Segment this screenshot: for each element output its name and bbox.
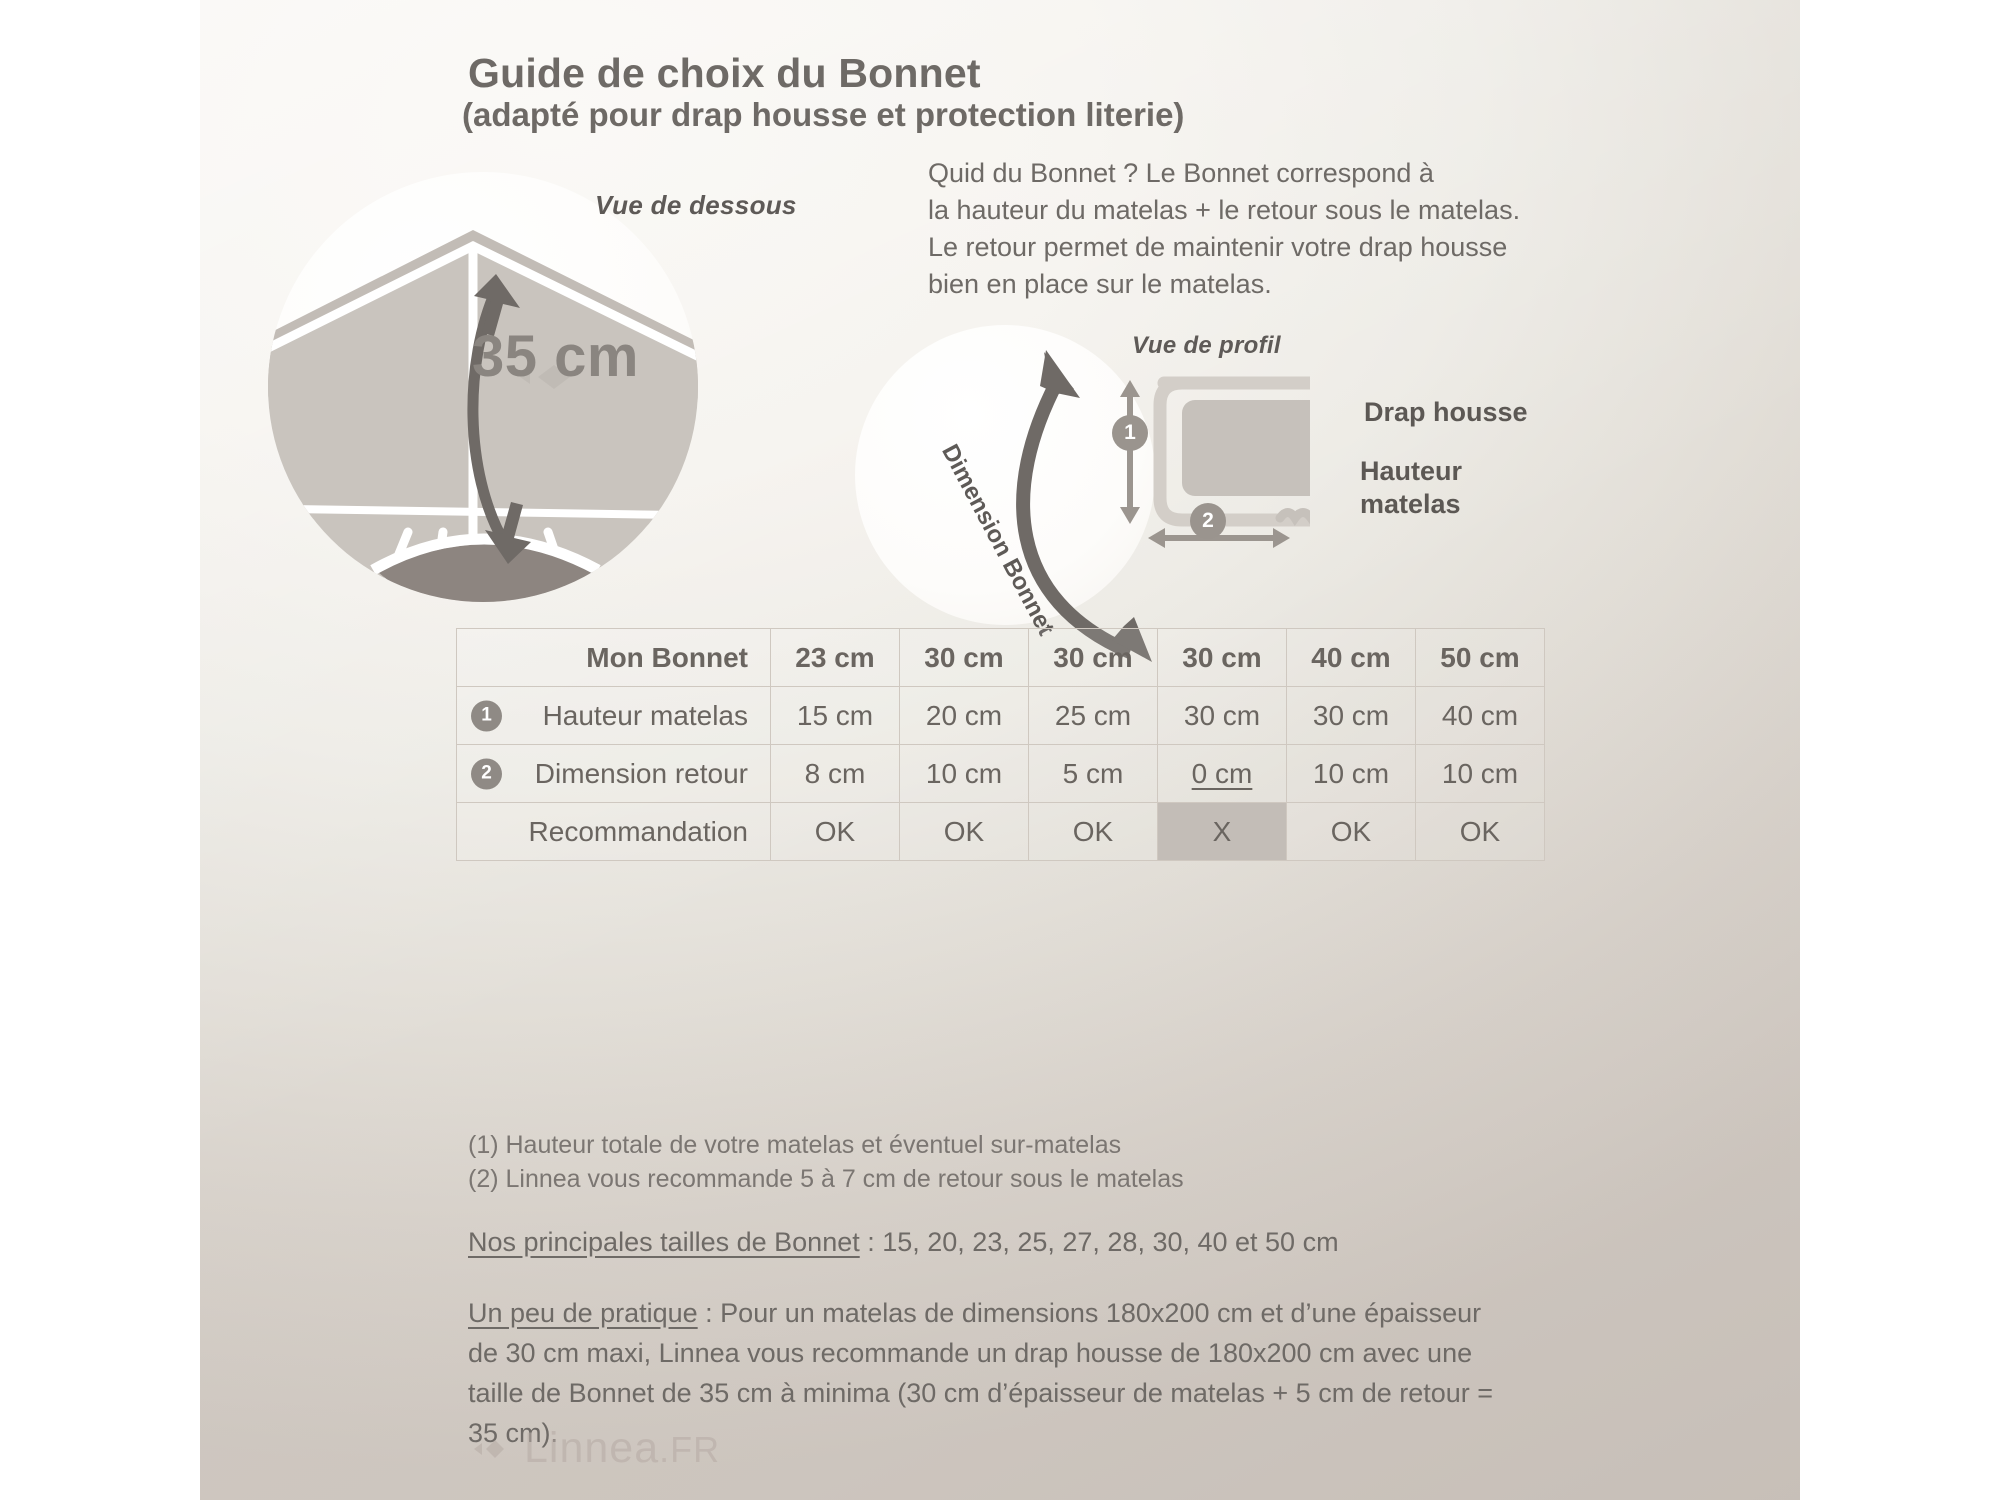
table-cell-r1c4: 10 cm <box>1287 745 1416 803</box>
infographic-canvas: Vue de dessous 35 cm <box>0 0 2000 1500</box>
table-col-header-3: 30 cm <box>1029 629 1158 687</box>
logo[interactable]: Linnea.FR <box>470 1424 720 1473</box>
table-row-label-cell-1: 2 Dimension retour <box>457 745 771 803</box>
sizes-line-rest: : 15, 20, 23, 25, 27, 28, 30, 40 et 50 c… <box>860 1227 1339 1257</box>
bottom-view-caption: Vue de dessous <box>595 190 797 221</box>
sizes-line-label: Nos principales tailles de Bonnet <box>468 1227 860 1257</box>
table-cell-r1c3: 0 cm <box>1158 745 1287 803</box>
table-cell-r0c0: 15 cm <box>771 687 900 745</box>
table-row: Recommandation OK OK OK X OK OK <box>457 803 1545 861</box>
row-badge-2: 2 <box>471 758 502 789</box>
table-cell-r1c1: 10 cm <box>900 745 1029 803</box>
mattress-body <box>1182 400 1310 496</box>
row-badge-1: 1 <box>471 700 502 731</box>
label-drap-housse: Drap housse <box>1364 396 1528 429</box>
table-cell-r2c1: OK <box>900 803 1029 861</box>
table-cell-r2c3-highlight: X <box>1158 803 1287 861</box>
footnotes: (1) Hauteur totale de votre matelas et é… <box>468 1128 1184 1196</box>
table-row-label-cell-2: Recommandation <box>457 803 771 861</box>
profile-badge-2: 2 <box>1190 503 1226 539</box>
table-row-label-1: Dimension retour <box>535 758 748 789</box>
table-cell-r1c0: 8 cm <box>771 745 900 803</box>
label-hauteur-matelas: Hauteur matelas <box>1360 455 1462 521</box>
table-cell-r0c1: 20 cm <box>900 687 1029 745</box>
table-cell-r2c2: OK <box>1029 803 1158 861</box>
elastic-squiggle <box>1280 513 1310 519</box>
table-col-header-1: 23 cm <box>771 629 900 687</box>
table-cell-r0c4: 30 cm <box>1287 687 1416 745</box>
table-cell-r1c5: 10 cm <box>1416 745 1545 803</box>
logo-text: Linnea.FR <box>524 1424 720 1473</box>
table-col-header-4: 30 cm <box>1158 629 1287 687</box>
logo-name: Linnea <box>524 1424 659 1472</box>
table-row-label-cell-0: 1 Hauteur matelas <box>457 687 771 745</box>
logo-suffix: .FR <box>659 1429 720 1470</box>
profile-badge-1: 1 <box>1112 415 1148 451</box>
table-cell-r0c5: 40 cm <box>1416 687 1545 745</box>
table-row-label-0: Hauteur matelas <box>543 700 748 731</box>
table-cell-r2c0: OK <box>771 803 900 861</box>
intro-paragraph: Quid du Bonnet ? Le Bonnet correspond à … <box>928 155 1520 303</box>
table-cell-r2c5: OK <box>1416 803 1545 861</box>
profile-view-caption: Vue de profil <box>1132 332 1281 360</box>
bonnet-table: Mon Bonnet 23 cm 30 cm 30 cm 30 cm 40 cm… <box>456 628 1545 861</box>
table-row: 2 Dimension retour 8 cm 10 cm 5 cm 0 cm … <box>457 745 1545 803</box>
sizes-line: Nos principales tailles de Bonnet : 15, … <box>468 1227 1339 1258</box>
table-cell-r2c4: OK <box>1287 803 1416 861</box>
bonnet-table-wrapper: Mon Bonnet 23 cm 30 cm 30 cm 30 cm 40 cm… <box>456 628 1506 861</box>
table-row-label-2: Recommandation <box>529 816 748 847</box>
artboard: Vue de dessous 35 cm <box>200 0 1800 1500</box>
measure-height-arrow <box>1120 380 1140 524</box>
table-col-header-0: Mon Bonnet <box>457 629 771 687</box>
page-subtitle: (adapté pour drap housse et protection l… <box>462 96 1184 134</box>
table-cell-r1c2: 5 cm <box>1029 745 1158 803</box>
table-cell-r0c2: 25 cm <box>1029 687 1158 745</box>
table-header-row: Mon Bonnet 23 cm 30 cm 30 cm 30 cm 40 cm… <box>457 629 1545 687</box>
table-col-header-2: 30 cm <box>900 629 1029 687</box>
table-col-header-6: 50 cm <box>1416 629 1545 687</box>
table-cell-r0c3: 30 cm <box>1158 687 1287 745</box>
practice-label: Un peu de pratique <box>468 1298 698 1328</box>
table-col-header-5: 40 cm <box>1287 629 1416 687</box>
page-title: Guide de choix du Bonnet <box>468 50 981 97</box>
label-hauteur-line2: matelas <box>1360 488 1462 521</box>
label-hauteur-line1: Hauteur <box>1360 455 1462 488</box>
table-row: 1 Hauteur matelas 15 cm 20 cm 25 cm 30 c… <box>457 687 1545 745</box>
bonnet-measure-value: 35 cm <box>472 323 639 390</box>
diamond-icon <box>470 1432 510 1466</box>
